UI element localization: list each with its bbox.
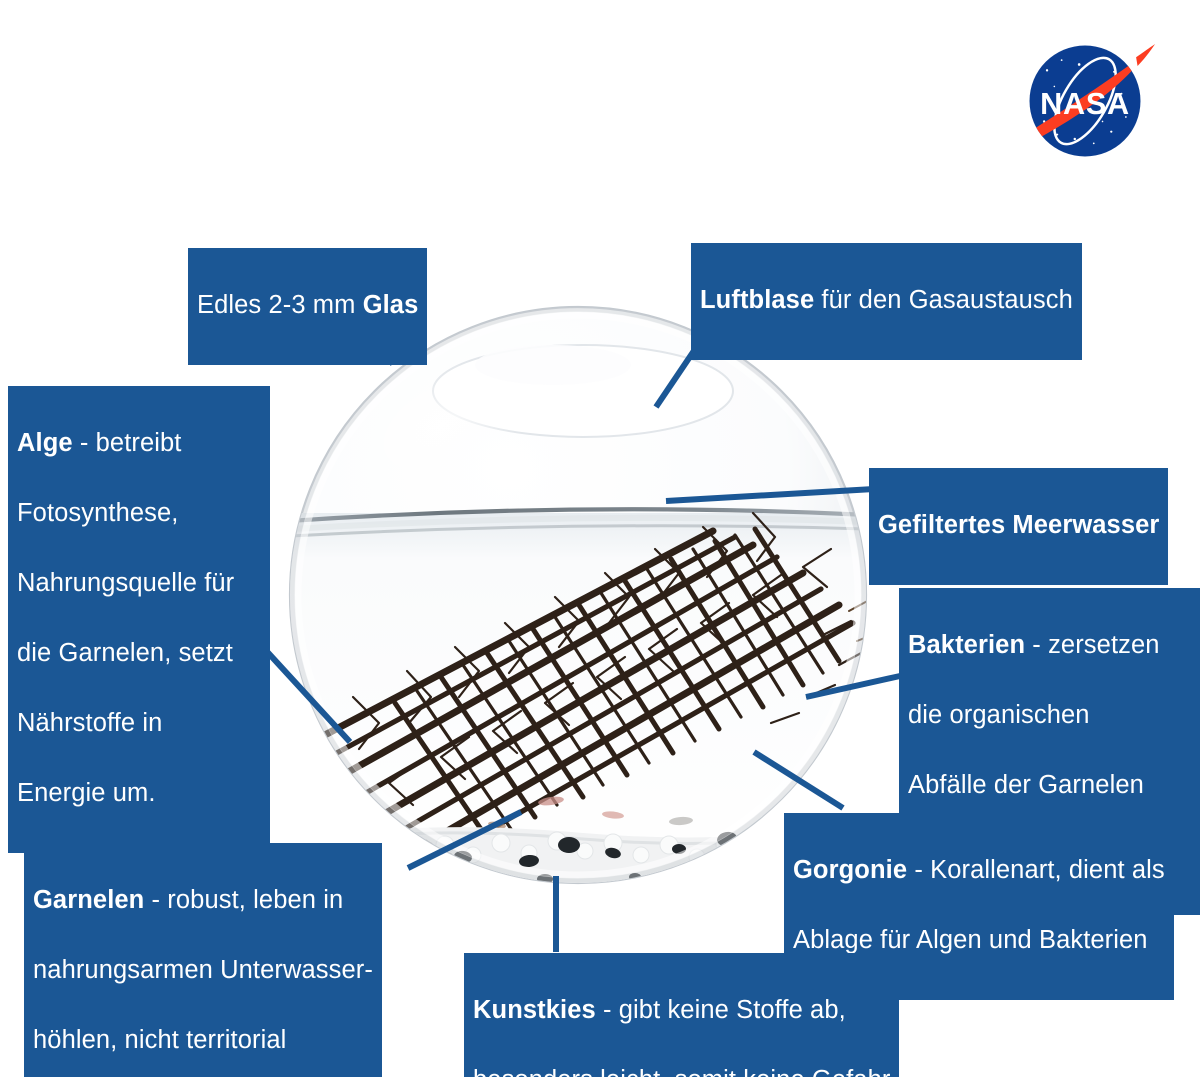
callout-bakterien-line-1: - zersetzen [1025, 631, 1159, 659]
callout-kunstkies-line-2: besonders leicht, somit keine Gefahr [473, 1063, 890, 1077]
alga-speck [342, 797, 377, 825]
callout-gorgonie-line-1: - Korallenart, dient als [907, 856, 1165, 884]
callout-bakterien-line-2: die organischen [908, 698, 1191, 733]
callout-glas-bold: Glas [363, 291, 419, 319]
callout-gorgonie-bold: Gorgonie [793, 856, 907, 884]
infographic-canvas: NASA [0, 0, 1200, 1077]
callout-kunstkies-bold: Kunstkies [473, 996, 596, 1024]
callout-kunstkies-line-1: - gibt keine Stoffe ab, [596, 996, 846, 1024]
callout-luftblase[interactable]: Luftblase für den Gasaustausch [691, 243, 1082, 360]
callout-kunstkies[interactable]: Kunstkies - gibt keine Stoffe ab, besond… [464, 953, 899, 1077]
callout-bakterien-bold: Bakterien [908, 631, 1025, 659]
callout-glas-plain: Edles 2-3 mm [197, 291, 363, 319]
callout-alge-line-4: die Garnelen, setzt [17, 636, 261, 671]
callout-gefiltertes-meerwasser[interactable]: Gefiltertes Meerwasser [869, 468, 1168, 585]
nasa-logo: NASA [1012, 28, 1158, 174]
callout-alge-bold: Alge [17, 429, 73, 457]
callout-garnelen[interactable]: Garnelen - robust, leben in nahrungsarme… [24, 843, 382, 1077]
callout-bakterien-line-3: Abfälle der Garnelen [908, 768, 1191, 803]
callout-alge-line-5: Nährstoffe in [17, 706, 261, 741]
callout-alge-line-1: - betreibt [73, 429, 182, 457]
callout-garnelen-bold: Garnelen [33, 886, 144, 914]
callout-alge-line-3: Nahrungsquelle für [17, 566, 261, 601]
callout-alge-line-6: Energie um. [17, 776, 261, 811]
callout-garnelen-line-1: - robust, leben in [144, 886, 343, 914]
nasa-wordmark: NASA [1040, 87, 1130, 121]
callout-garnelen-line-2: nahrungsarmen Unterwasser- [33, 953, 373, 988]
callout-alge-line-2: Fotosynthese, [17, 496, 261, 531]
callout-garnelen-line-3: höhlen, nicht territorial [33, 1023, 373, 1058]
callout-luftblase-rest: für den Gasaustausch [814, 286, 1073, 314]
callout-luftblase-bold: Luftblase [700, 286, 814, 314]
callout-meerwasser-bold: Gefiltertes Meerwasser [878, 511, 1159, 539]
callout-alge[interactable]: Alge - betreibt Fotosynthese, Nahrungsqu… [8, 386, 270, 853]
ecosphere-aquarium-image [283, 305, 883, 885]
callout-glas[interactable]: Edles 2-3 mm Glas [188, 248, 427, 365]
